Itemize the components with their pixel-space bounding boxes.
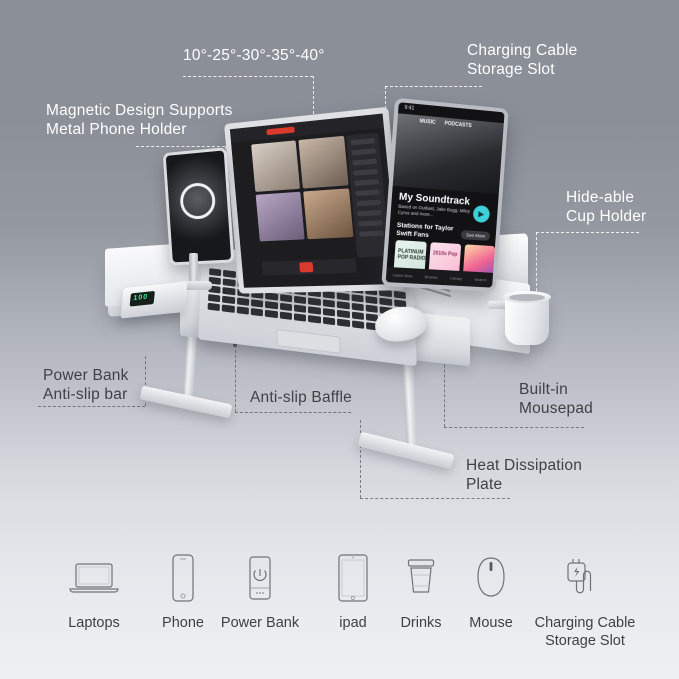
product-illustration: 9:41 MUSIC PODCASTS My Soundtrack Based … <box>0 95 679 535</box>
coffee-cup-icon <box>382 548 460 608</box>
cup-holder-inner <box>509 294 545 301</box>
power-bank-display: 100 <box>130 291 155 307</box>
power-bank: 100 <box>120 281 187 318</box>
music-card-title: PLATINUM POP RADIO <box>397 248 426 262</box>
compat-label: Mouse <box>452 614 530 632</box>
participant-tile <box>303 188 354 239</box>
participant-tile <box>256 191 305 241</box>
music-card-title: 2010s Pop <box>433 250 458 257</box>
power-bank-value: 100 <box>133 294 148 303</box>
power-bank-icon <box>212 548 308 608</box>
compat-label: Power Bank <box>212 614 308 632</box>
tab-podcasts[interactable]: PODCASTS <box>444 121 472 129</box>
nav-browse[interactable]: Browse <box>425 274 439 280</box>
tab-music[interactable]: MUSIC <box>419 118 435 125</box>
infographic-canvas: 10°-25°-30°-35°-40° Charging Cable Stora… <box>0 0 679 679</box>
video-call-chat-panel <box>346 133 390 258</box>
music-section-title: Stations for Taylor Swift Fans <box>396 222 467 243</box>
phone-on-magnetic-holder <box>163 147 235 265</box>
magnetic-ring-icon <box>179 181 216 220</box>
phone-holder-stem <box>189 253 198 283</box>
play-icon[interactable]: ▶ <box>473 205 491 223</box>
participant-tile <box>251 140 299 191</box>
end-call-button <box>299 262 313 272</box>
music-hero-art: MUSIC PODCASTS <box>393 113 504 194</box>
see-more-button[interactable]: See More <box>461 230 490 241</box>
callout-charging-slot: Charging Cable Storage Slot <box>467 41 578 79</box>
music-tabs: MUSIC PODCASTS <box>419 118 494 131</box>
compat-item-drinks: Drinks <box>382 548 460 632</box>
status-time: 9:41 <box>404 105 414 112</box>
compat-label: Drinks <box>382 614 460 632</box>
leader-charging-h <box>385 86 482 87</box>
nav-search[interactable]: Search <box>474 277 487 283</box>
compat-item-ipad: ipad <box>318 548 388 632</box>
leader-tilt-h <box>183 76 313 77</box>
video-participant-grid <box>251 136 353 242</box>
laptop-screen <box>224 107 406 294</box>
compat-item-phone: Phone <box>144 548 222 632</box>
laptop-icon <box>48 548 140 608</box>
participant-tile <box>298 136 349 188</box>
compat-label: Laptops <box>48 614 140 632</box>
nav-library[interactable]: Library <box>450 275 462 281</box>
phone-icon <box>144 548 222 608</box>
compat-item-mouse: Mouse <box>452 548 530 632</box>
callout-tilt-angles: 10°-25°-30°-35°-40° <box>183 46 325 65</box>
tablet-screen: 9:41 MUSIC PODCASTS My Soundtrack Based … <box>381 98 508 292</box>
compatibility-row: Laptops Phone <box>0 540 679 679</box>
compat-label: Charging Cable Storage Slot <box>522 614 648 650</box>
nav-listen-now[interactable]: Listen Now <box>392 272 412 278</box>
cup-holder <box>505 295 549 345</box>
compat-item-charging-cable: Charging Cable Storage Slot <box>522 548 648 650</box>
compat-label: Phone <box>144 614 222 632</box>
charging-cable-icon <box>522 548 648 608</box>
tablet-icon <box>318 548 388 608</box>
compat-item-laptops: Laptops <box>48 548 140 632</box>
mouse-icon <box>452 548 530 608</box>
compat-item-power-bank: Power Bank <box>212 548 308 632</box>
compat-label: ipad <box>318 614 388 632</box>
